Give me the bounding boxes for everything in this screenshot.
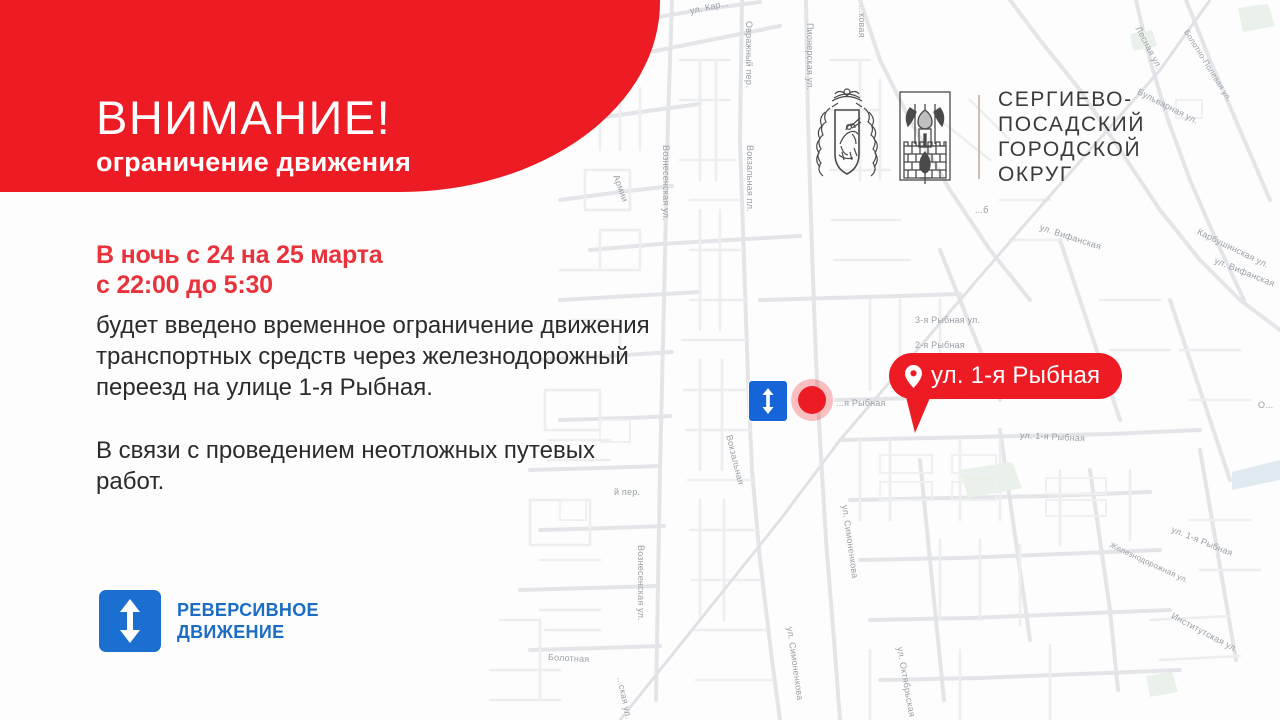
banner-text-group: ВНИМАНИЕ! ограничение движения	[96, 92, 616, 178]
moscow-oblast-coat-of-arms	[808, 82, 886, 192]
banner-subtitle: ограничение движения	[96, 146, 616, 178]
map-callout[interactable]: ул. 1-я Рыбная	[889, 353, 1122, 399]
emblem-divider	[978, 95, 980, 179]
district-name: СЕРГИЕВО- ПОСАДСКИЙ ГОРОДСКОЙ ОКРУГ	[998, 87, 1145, 187]
notice-text-block: В ночь с 24 на 25 марта с 22:00 до 5:30 …	[96, 240, 656, 497]
double-arrow-icon-small	[761, 387, 775, 415]
callout-tail	[905, 393, 932, 433]
map-street-label: 2-я Рыбная	[915, 340, 965, 350]
notice-date-line-2: с 22:00 до 5:30	[96, 270, 656, 300]
notice-paragraph-1: будет введено временное ограничение движ…	[96, 310, 656, 403]
red-location-dot	[791, 379, 833, 421]
map-street-label: Пионерская ул.	[805, 23, 815, 90]
marker-core	[798, 386, 826, 414]
district-name-line-2: ПОСАДСКИЙ	[998, 112, 1145, 137]
attention-banner: ВНИМАНИЕ! ограничение движения	[0, 0, 660, 192]
map-street-label: 3-я Рыбная ул.	[915, 315, 980, 325]
map-street-label: ...б	[975, 205, 988, 215]
map-pin-icon	[905, 365, 922, 388]
legend-label-line-2: ДВИЖЕНИЕ	[177, 621, 319, 643]
reversible-traffic-arrow-icon	[99, 590, 161, 652]
map-street-label: О...	[1258, 400, 1273, 410]
banner-title: ВНИМАНИЕ!	[96, 92, 616, 144]
district-name-line-4: ОКРУГ	[998, 162, 1145, 187]
double-arrow-icon	[117, 598, 143, 644]
map-street-label: Болотная	[548, 652, 590, 664]
legend-reversible-traffic: РЕВЕРСИВНОЕ ДВИЖЕНИЕ	[99, 590, 319, 652]
district-name-line-1: СЕРГИЕВО-	[998, 87, 1145, 112]
map-street-label: Овражный пер.	[744, 21, 754, 88]
map-street-label: ...я Рыбная	[836, 398, 886, 408]
poster-root: ул. Кар...Овражный пер.Пионерская ул....…	[0, 0, 1280, 720]
map-street-label: Вокзальная пл.	[745, 145, 755, 212]
map-street-label: Вознесенская ул.	[661, 145, 671, 221]
callout-label: ул. 1-я Рыбная	[931, 362, 1100, 390]
legend-label: РЕВЕРСИВНОЕ ДВИЖЕНИЕ	[177, 599, 319, 643]
notice-date-line-1: В ночь с 24 на 25 марта	[96, 240, 656, 270]
map-street-label: ...ковая	[857, 5, 867, 38]
legend-label-line-1: РЕВЕРСИВНОЕ	[177, 599, 319, 621]
emblem-group: СЕРГИЕВО- ПОСАДСКИЙ ГОРОДСКОЙ ОКРУГ	[808, 82, 1145, 192]
notice-paragraph-2: В связи с проведением неотложных путевых…	[96, 435, 656, 497]
map-reversible-sign-icon	[748, 380, 788, 422]
map-street-label: Вознесенская ул.	[636, 545, 646, 621]
district-name-line-3: ГОРОДСКОЙ	[998, 137, 1145, 162]
sergiev-posad-coat-of-arms	[886, 82, 964, 192]
